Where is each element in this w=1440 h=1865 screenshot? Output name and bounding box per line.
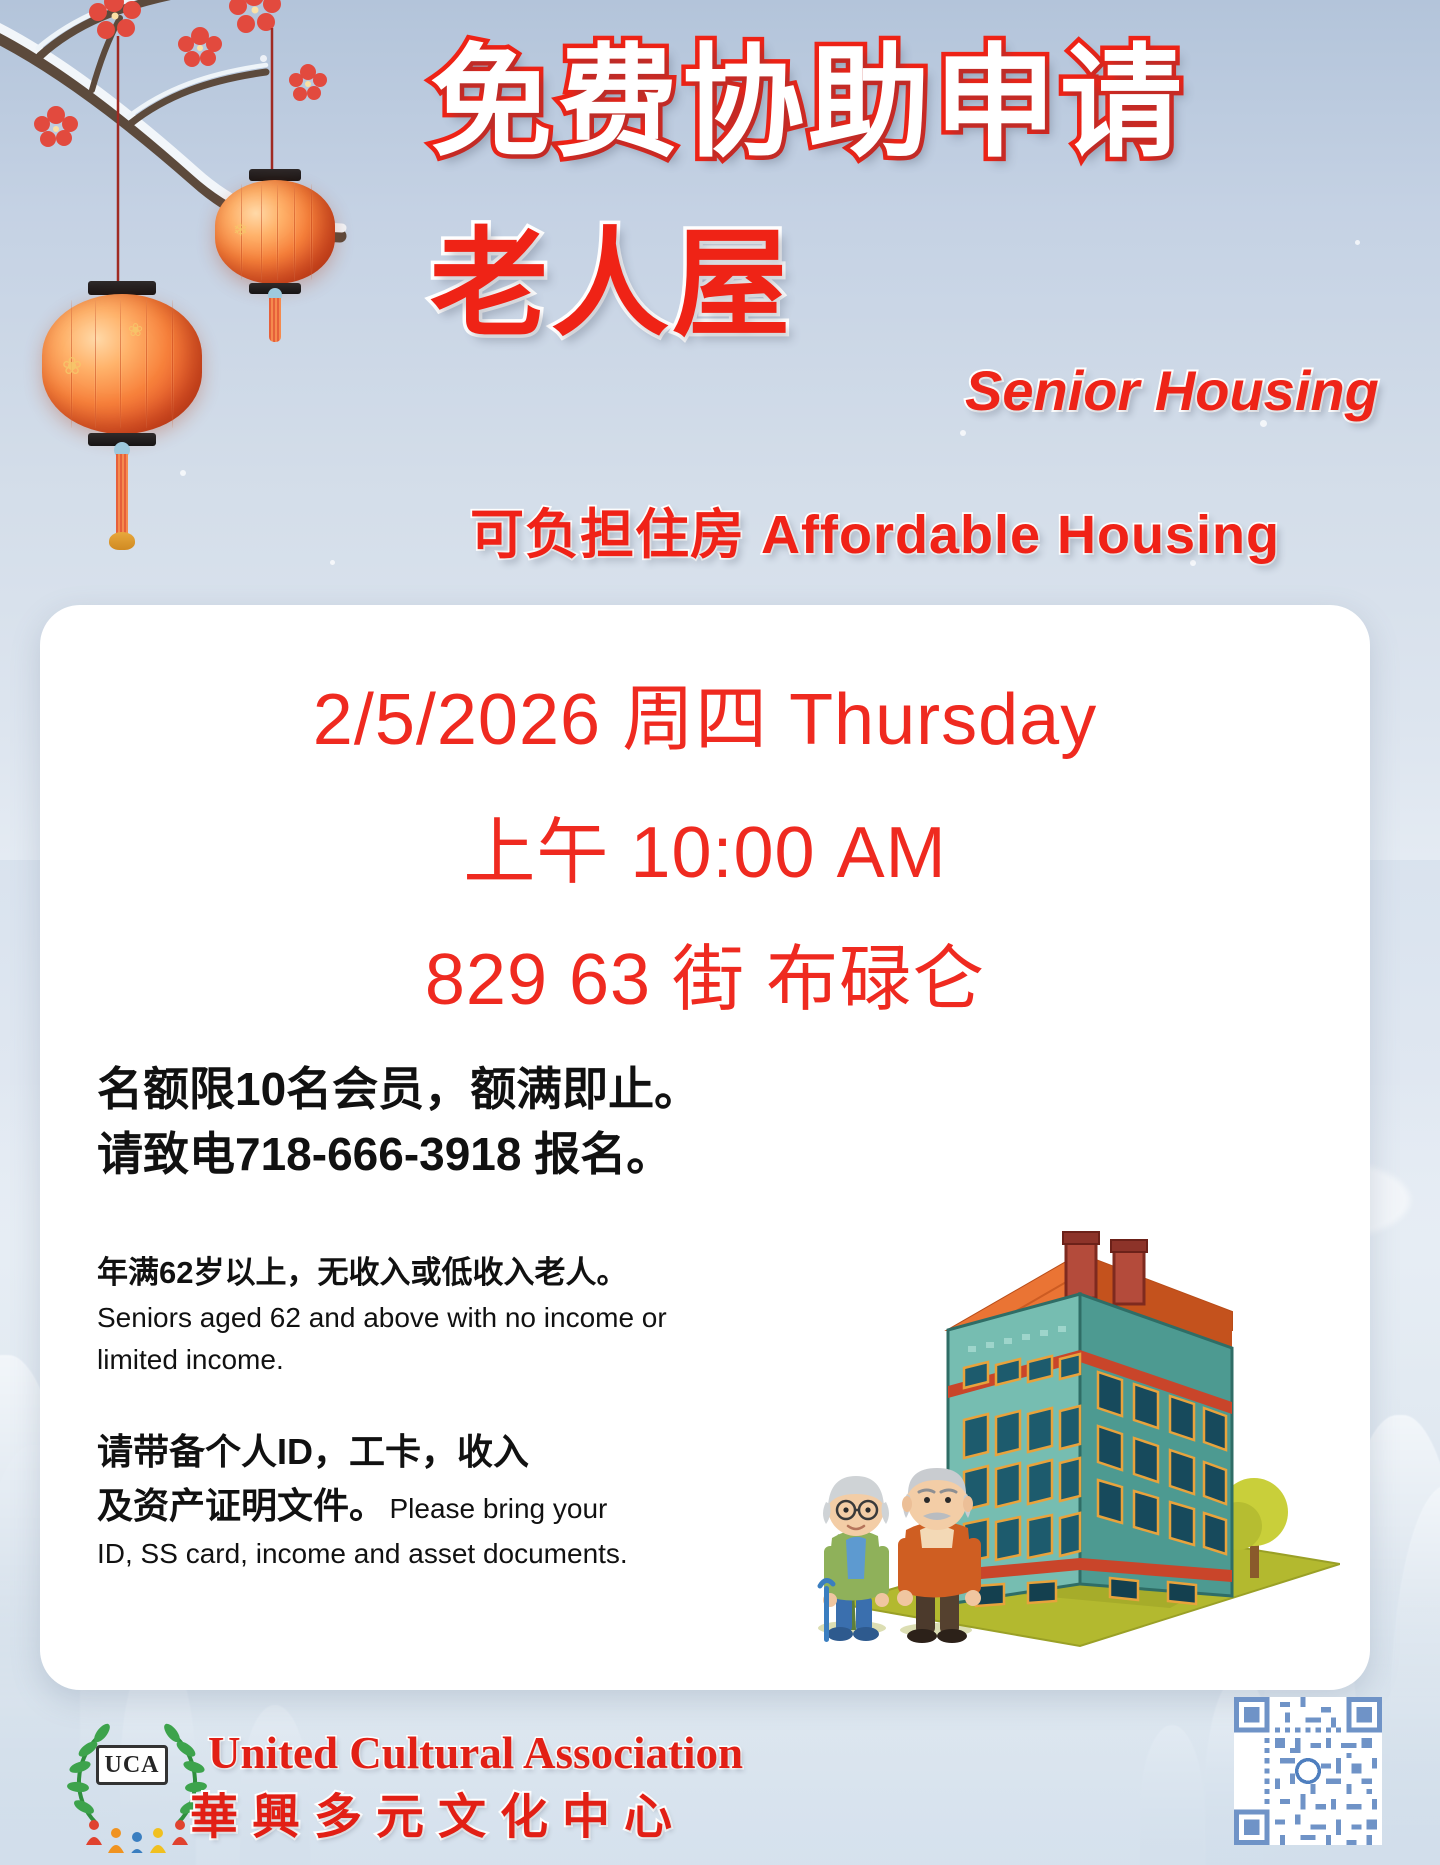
plum-branch-icon: ❄ ❀ ❀ — [0, 0, 460, 604]
tagline: 可负担住房 Affordable Housing — [470, 490, 1280, 569]
documents-en-2: ID, SS card, income and asset documents. — [97, 1538, 628, 1569]
poster-root: ❄ ❀ ❀ 免费协助申请 老人屋 Senior Housing 可负担住房 Af… — [0, 0, 1440, 1865]
quota-line-1: 名额限10名会员，额满即止。 — [97, 1057, 857, 1122]
eligibility-cn: 年满62岁以上，无收入或低收入老人。 — [97, 1250, 707, 1297]
laurel-wreath-icon: UCA — [62, 1713, 202, 1843]
documents-block: 请带备个人ID，工卡，收入 及资产证明文件。 Please bring your… — [97, 1425, 717, 1575]
footer: UCA United Cultural Association 華興多元文化中心 — [0, 1690, 1440, 1865]
qr-code-icon[interactable] — [1234, 1697, 1382, 1845]
page-title: 免费协助申请 — [430, 38, 1350, 170]
eligibility-en-2: limited income. — [97, 1339, 707, 1381]
quota-line-2: 请致电718-666-3918 报名。 — [97, 1122, 857, 1187]
lantern-icon: ❄ — [215, 180, 335, 284]
documents-cn-1: 请带备个人ID，工卡，收入 — [97, 1431, 529, 1472]
lantern-icon: ❀ ❀ — [42, 294, 202, 434]
elderly-couple-icon — [818, 1468, 981, 1643]
event-time: 上午 10:00 AM — [40, 793, 1370, 898]
event-address: 829 63 街 布碌仑 — [40, 920, 1370, 1025]
figure-group — [86, 1820, 188, 1853]
organization-name-cn: 華興多元文化中心 — [190, 1777, 686, 1847]
documents-cn-2: 及资产证明文件。 — [97, 1485, 385, 1526]
subject-title-cn: 老人屋 — [430, 222, 793, 349]
documents-en-1: Please bring your — [389, 1493, 607, 1524]
eligibility-en-1: Seniors aged 62 and above with no income… — [97, 1297, 707, 1339]
subject-title-en: Senior Housing — [965, 358, 1379, 423]
info-card: 2/5/2026 周四 Thursday 上午 10:00 AM 829 63 … — [40, 605, 1370, 1690]
organization-name-en: United Cultural Association — [208, 1727, 743, 1779]
apartment-building-icon — [780, 1134, 1340, 1654]
eligibility-block: 年满62岁以上，无收入或低收入老人。 Seniors aged 62 and a… — [97, 1250, 707, 1381]
event-date: 2/5/2026 周四 Thursday — [40, 660, 1370, 765]
quota-block: 名额限10名会员，额满即止。 请致电718-666-3918 报名。 — [97, 1057, 857, 1188]
logo-mark: UCA — [96, 1745, 168, 1785]
